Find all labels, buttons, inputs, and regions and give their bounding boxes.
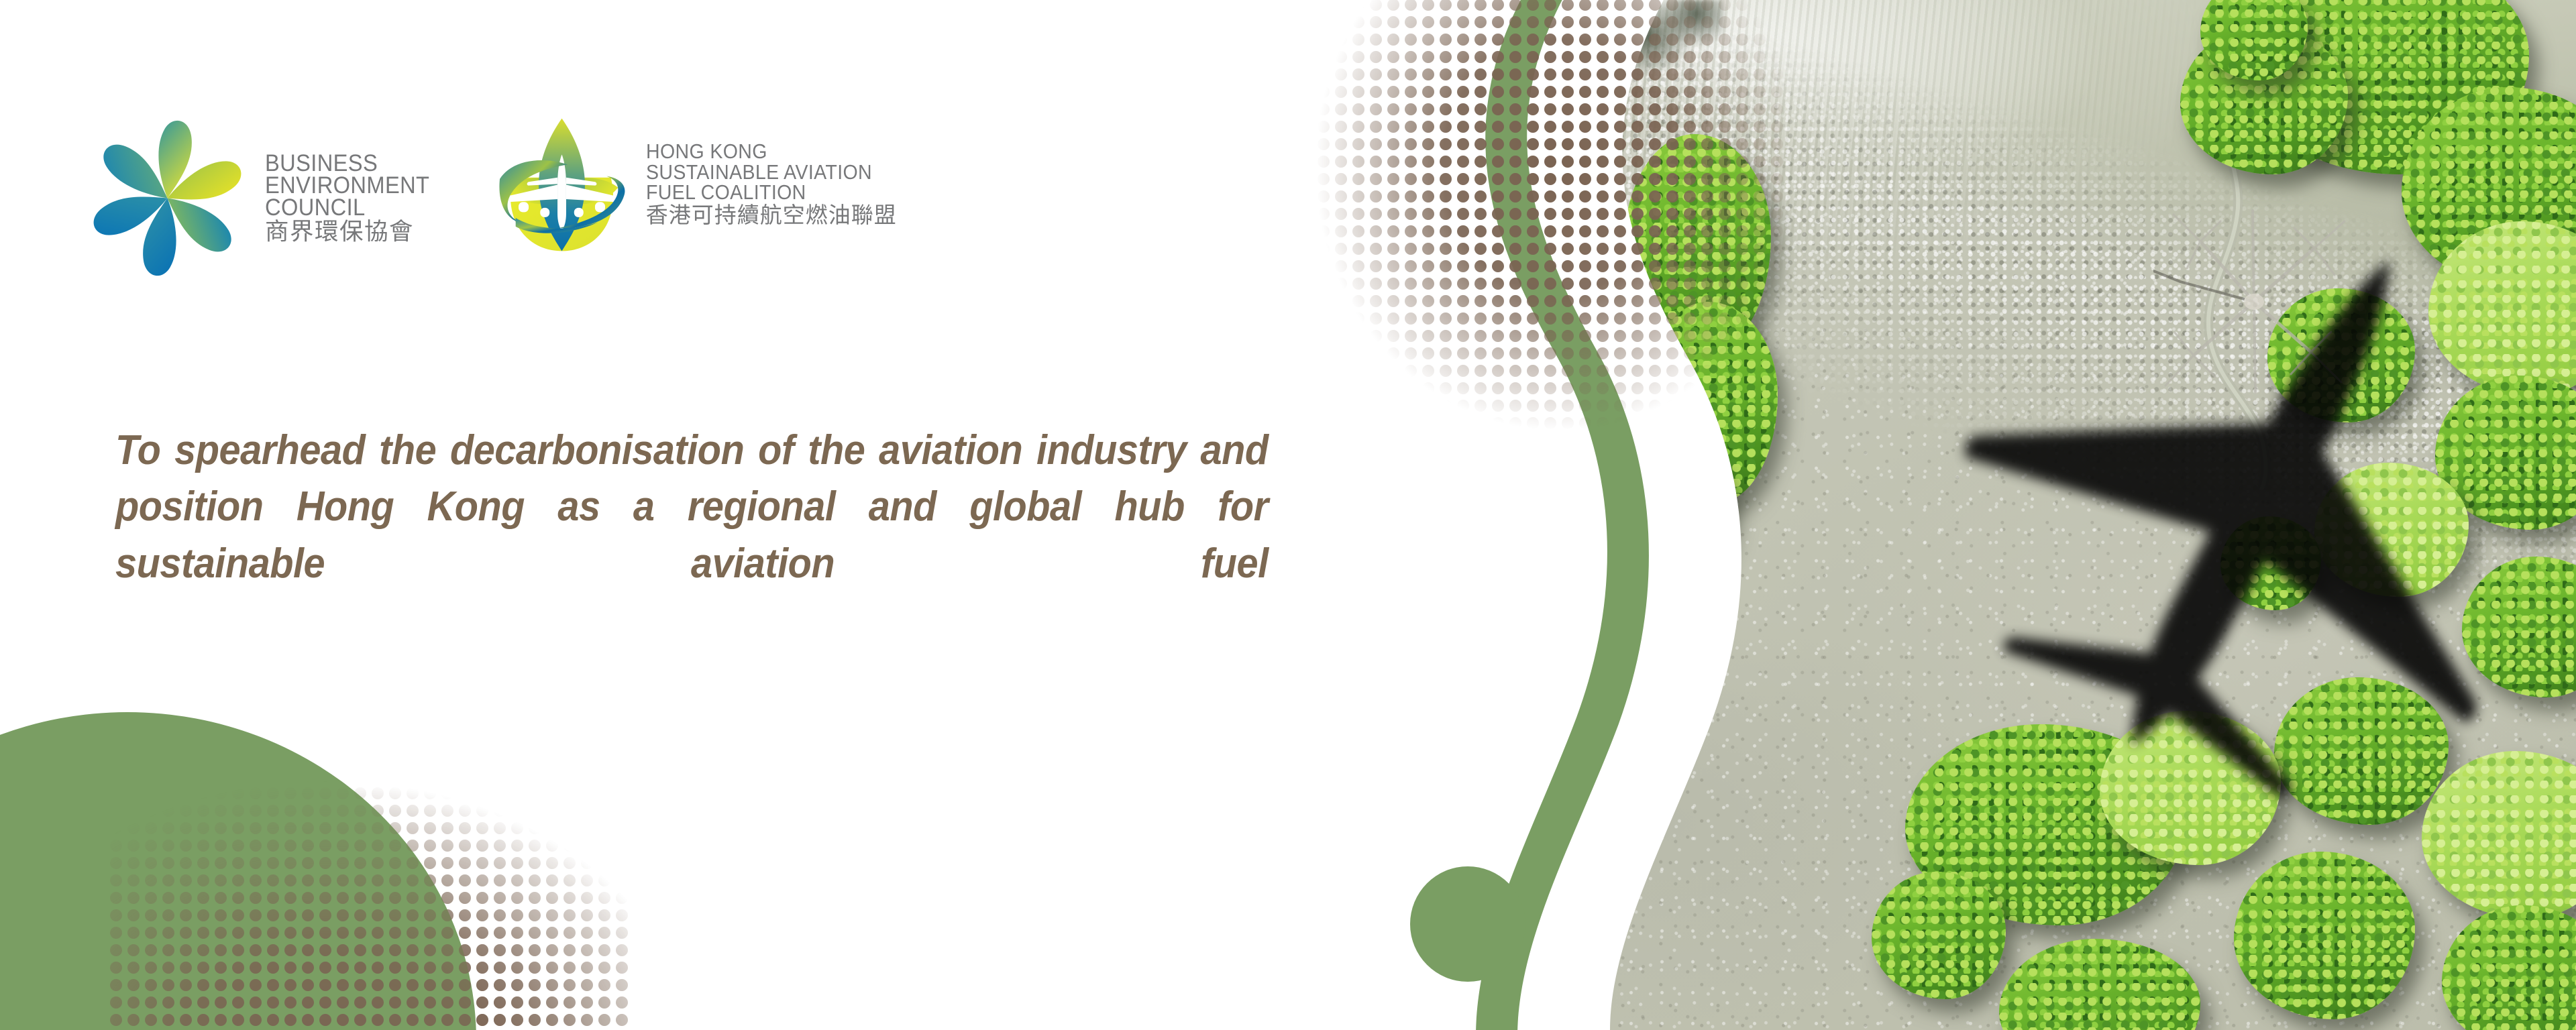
mangrove-canopy bbox=[1872, 872, 2006, 999]
hksaf-wordmark: HONG KONG SUSTAINABLE AVIATION FUEL COAL… bbox=[646, 141, 897, 228]
green-circle-shape bbox=[1410, 866, 1525, 982]
airplane-shadow-icon bbox=[1966, 201, 2556, 805]
hksaf-line-chinese: 香港可持續航空燃油聯盟 bbox=[646, 203, 897, 228]
mangrove-canopy bbox=[1610, 436, 1731, 577]
hksaf-line-1: HONG KONG bbox=[646, 141, 877, 162]
hksaf-logo-lockup[interactable]: HONG KONG SUSTAINABLE AVIATION FUEL COAL… bbox=[490, 113, 897, 257]
bec-line-3: COUNCIL bbox=[265, 196, 429, 219]
bec-line-chinese: 商界環保協會 bbox=[265, 219, 444, 244]
hero-photograph bbox=[1442, 0, 2576, 1030]
tree-reflection-edge bbox=[1442, 0, 1724, 101]
bec-petal-swirl-icon bbox=[82, 113, 253, 284]
hksaf-line-2: SUSTAINABLE AVIATION bbox=[646, 162, 877, 182]
logo-row: BUSINESS ENVIRONMENT COUNCIL 商界環保協會 bbox=[82, 113, 897, 284]
bec-logo-lockup[interactable]: BUSINESS ENVIRONMENT COUNCIL 商界環保協會 bbox=[82, 113, 444, 284]
mission-tagline: To spearhead the decarbonisation of the … bbox=[115, 422, 1269, 648]
mangrove-canopy bbox=[1644, 302, 1778, 503]
hksaf-line-3: FUEL COALITION bbox=[646, 182, 877, 203]
bec-wordmark: BUSINESS ENVIRONMENT COUNCIL 商界環保協會 bbox=[265, 152, 444, 244]
mangrove-canopy bbox=[2234, 852, 2415, 1019]
green-ellipse-shape bbox=[0, 712, 476, 1030]
banner-root: BUSINESS ENVIRONMENT COUNCIL 商界環保協會 bbox=[0, 0, 2576, 1030]
hksaf-leaf-airplane-icon bbox=[490, 113, 634, 257]
